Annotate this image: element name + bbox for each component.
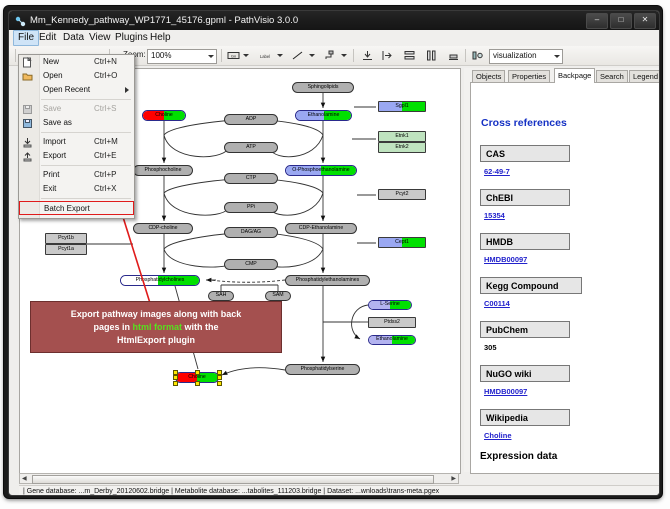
toolbar-separator [221, 49, 222, 62]
node-label: DAG/AG [241, 230, 261, 235]
menu-item-accel: Ctrl+O [94, 69, 117, 83]
pathvisio-app-icon [15, 15, 26, 26]
metabolite-node-ppi[interactable]: PPi [224, 202, 278, 213]
metabolite-node-atp[interactable]: ATP [224, 142, 278, 153]
metabolite-node-phosphatidylserine[interactable]: Phosphatidylserine [285, 364, 360, 375]
xref-label-nugo: NuGO wiki [480, 365, 570, 382]
gene-node-pcyt1b[interactable]: Pcyt1b [45, 233, 87, 244]
interaction-icon[interactable] [323, 49, 336, 62]
node-label: Etnk2 [395, 145, 408, 150]
line-icon[interactable] [291, 49, 304, 62]
menu-separator [41, 198, 131, 199]
gene-node-ptdss2[interactable]: Ptdss2 [368, 317, 416, 328]
save-as-icon [22, 118, 33, 129]
gene-node-cept1[interactable]: Cept1 [378, 237, 426, 248]
node-label: Ptdss2 [384, 320, 400, 325]
visualization-value: visualization [493, 51, 537, 60]
menu-item-open[interactable]: Open Ctrl+O [19, 69, 134, 83]
zoom-combobox[interactable]: 100% [147, 49, 217, 64]
metabolite-node-cdp-choline[interactable]: CDP-choline [133, 223, 193, 234]
gene-node-pcyt1a[interactable]: Pcyt1a [45, 244, 87, 255]
new-document-icon [22, 57, 33, 68]
node-label: Ethanolamine [308, 113, 340, 118]
menu-item-export[interactable]: Export Ctrl+E [19, 149, 134, 163]
window-frame: Mm_Kennedy_pathway_WP1771_45176.gpml - P… [8, 10, 660, 496]
metabolite-node-l-serine[interactable]: L-Serine [368, 300, 412, 310]
export-icon [22, 151, 33, 162]
tab-backpage[interactable]: Backpage [554, 68, 595, 83]
menu-item-accel: Ctrl+S [94, 102, 116, 116]
metabolite-node-phosphatidylethanolamines[interactable]: Phosphatidylethanolamines [285, 275, 370, 286]
node-label: Pcyt1b [58, 236, 74, 241]
node-label: Sgpl1 [395, 104, 408, 109]
selection-handle[interactable] [173, 381, 178, 386]
line-dropdown-icon[interactable] [309, 54, 315, 57]
gene-node-pcyt2[interactable]: Pcyt2 [378, 189, 426, 200]
menu-separator [41, 165, 131, 166]
xref-label-pubchem: PubChem [480, 321, 570, 338]
menu-item-import[interactable]: Import Ctrl+M [19, 135, 134, 149]
interaction-dropdown-icon[interactable] [341, 54, 347, 57]
svg-text:Gn: Gn [231, 54, 236, 59]
menu-item-new[interactable]: New Ctrl+N [19, 55, 134, 69]
visualization-combobox[interactable]: visualization [489, 49, 563, 64]
selection-handle[interactable] [217, 370, 222, 375]
node-label: CDP-choline [148, 226, 177, 231]
toolbar-separator [15, 49, 16, 62]
node-label: Phosphatidylethanolamines [296, 278, 359, 283]
node-label: ADP [246, 117, 257, 122]
menu-item-print[interactable]: Print Ctrl+P [19, 168, 134, 182]
menu-help[interactable]: Help [146, 31, 175, 45]
metabolite-node-sphingolipids[interactable]: Sphingolipids [292, 82, 354, 93]
menu-item-accel: Ctrl+M [94, 135, 118, 149]
annotation-callout: Export pathway images along with back pa… [30, 301, 282, 353]
maximize-button[interactable]: □ [610, 13, 632, 29]
node-label: O-Phosphoethanolamine [292, 168, 349, 173]
window-title: Mm_Kennedy_pathway_WP1771_45176.gpml - P… [30, 11, 298, 30]
node-label: SAM [272, 293, 283, 298]
datanode-dropdown-icon[interactable] [243, 54, 249, 57]
label-dropdown-icon[interactable] [277, 54, 283, 57]
menu-item-accel: Ctrl+N [94, 55, 117, 69]
metabolite-node-dag-ag[interactable]: DAG/AG [224, 227, 278, 238]
xref-label-kegg: Kegg Compound [480, 277, 582, 294]
annotation-html-format: html format [133, 322, 183, 332]
window-controls: – □ ✕ [586, 13, 656, 29]
selection-handle[interactable] [195, 381, 200, 386]
selection-handle[interactable] [217, 375, 222, 380]
menu-separator [41, 132, 131, 133]
chevron-down-icon [208, 55, 214, 58]
expression-data-heading: Expression data [480, 451, 557, 462]
gene-node-etnk1[interactable]: Etnk1 [378, 131, 426, 142]
menu-item-save: Save Ctrl+S [19, 102, 134, 116]
menu-item-label: Import [43, 135, 66, 149]
xref-value-kegg[interactable]: C00114 [484, 299, 510, 308]
menu-item-label: New [43, 55, 59, 69]
pathvisio-window: Mm_Kennedy_pathway_WP1771_45176.gpml - P… [0, 0, 670, 509]
node-label: Pcyt2 [396, 192, 409, 197]
cross-references-heading: Cross references [481, 117, 567, 129]
annotation-line2-pre: pages in [93, 322, 132, 332]
file-menu-popup: New Ctrl+N Open Ctrl+O Open Recent Save [18, 54, 135, 219]
xref-label-wikipedia: Wikipedia [480, 409, 570, 426]
menu-item-accel: Ctrl+E [94, 149, 116, 163]
align-top-icon[interactable] [361, 49, 374, 62]
metabolite-node-choline[interactable]: Choline [142, 110, 186, 121]
metabolite-node-sam[interactable]: SAM [265, 291, 291, 301]
close-button[interactable]: ✕ [634, 13, 656, 29]
import-icon [22, 137, 33, 148]
svg-text:Label: Label [260, 54, 270, 59]
metabolite-node-ethanolamine[interactable]: Ethanolamine [295, 110, 352, 121]
node-label: Etnk1 [395, 134, 408, 139]
selection-handle[interactable] [195, 370, 200, 375]
gene-node-etnk2[interactable]: Etnk2 [378, 142, 426, 153]
node-label: Ethanolamine [376, 337, 408, 342]
metabolite-node-sah[interactable]: SAH [208, 291, 234, 301]
side-panel: Objects Properties Backpage Search Legen… [464, 68, 660, 472]
metabolite-node-ethanolamine[interactable]: Ethanolamine [368, 335, 416, 345]
annotation-line1: Export pathway images along with back [71, 308, 242, 321]
menu-item-label: Export [43, 149, 66, 163]
xref-label-chebi: ChEBI [480, 189, 570, 206]
menu-item-exit[interactable]: Exit Ctrl+X [19, 182, 134, 196]
menu-bar: File Edit Data View Plugins Help [9, 30, 659, 47]
scrollbar-thumb[interactable] [32, 475, 434, 484]
node-label: Pcyt1a [58, 247, 74, 252]
node-label: Phosphatidylcholines [136, 278, 185, 283]
side-panel-tabs: Objects Properties Backpage Search Legen… [464, 68, 660, 82]
menu-item-label: Save [43, 102, 61, 116]
menu-item-save-as[interactable]: Save as [19, 116, 134, 130]
title-bar: Mm_Kennedy_pathway_WP1771_45176.gpml - P… [9, 11, 659, 30]
menu-item-label: Exit [43, 182, 56, 196]
annotation-line2: pages in html format with the [71, 321, 242, 334]
menu-item-open-recent[interactable]: Open Recent [19, 83, 134, 97]
menu-item-label: Save as [43, 116, 72, 130]
node-label: SAH [216, 293, 227, 298]
annotation-line3: HtmlExport plugin [71, 334, 242, 347]
align-columns-icon[interactable] [425, 49, 438, 62]
toolbar-separator [465, 49, 466, 62]
xref-value-wikipedia[interactable]: Choline [484, 431, 512, 440]
selection-handle[interactable] [173, 375, 178, 380]
metabolite-node-ctp[interactable]: CTP [224, 173, 278, 184]
xref-value-chebi[interactable]: 15354 [484, 211, 505, 220]
metabolite-node-cmp[interactable]: CMP [224, 259, 278, 270]
visualization-icon[interactable] [471, 49, 484, 62]
xref-value-nugo[interactable]: HMDB00097 [484, 387, 527, 396]
save-disk-icon [22, 104, 33, 115]
node-label: Phosphatidylserine [301, 367, 345, 372]
chevron-down-icon [554, 55, 560, 58]
menu-edit[interactable]: Edit [35, 31, 60, 45]
scroll-left-icon[interactable]: ◀ [22, 476, 27, 482]
align-rows-icon[interactable] [403, 49, 416, 62]
menu-item-label: Print [43, 168, 59, 182]
open-folder-icon [22, 71, 33, 82]
metabolite-node-cdp-ethanolamine[interactable]: CDP-Ethanolamine [285, 223, 357, 234]
status-bar: | Gene database: ...m_Derby_20120602.bri… [19, 485, 660, 496]
menu-item-batch-export[interactable]: Batch Export [19, 201, 134, 215]
minimize-button[interactable]: – [586, 13, 608, 29]
zoom-value: 100% [151, 51, 171, 60]
menu-item-accel: Ctrl+X [94, 182, 116, 196]
xref-value-cas[interactable]: 62-49-7 [484, 167, 510, 176]
xref-value-hmdb[interactable]: HMDB00097 [484, 255, 527, 264]
menu-item-label: Batch Export [44, 202, 90, 216]
metabolite-node-o-phosphoethanolamine[interactable]: O-Phosphoethanolamine [285, 165, 357, 176]
node-label: CTP [246, 176, 256, 181]
menu-data[interactable]: Data [59, 31, 88, 45]
align-left-icon[interactable] [381, 49, 394, 62]
xref-label-hmdb: HMDB [480, 233, 570, 250]
node-label: Choline [188, 375, 206, 380]
scroll-right-icon[interactable]: ▶ [451, 476, 456, 482]
menu-item-accel: Ctrl+P [94, 168, 116, 182]
label-icon[interactable]: Label [255, 49, 275, 62]
node-label: Cept1 [395, 240, 409, 245]
backpage-content: Cross references CAS 62-49-7 ChEBI 15354… [470, 82, 660, 474]
canvas-horizontal-scrollbar[interactable]: ◀ ▶ [19, 473, 459, 484]
node-label: Choline [155, 113, 173, 118]
node-label: CMP [245, 262, 257, 267]
node-label: L-Serine [380, 302, 400, 307]
metabolite-node-adp[interactable]: ADP [224, 114, 278, 125]
annotation-line2-post: with the [182, 322, 219, 332]
xref-label-cas: CAS [480, 145, 570, 162]
chevron-right-icon [125, 87, 129, 93]
node-label: Phosphocholine [145, 168, 182, 173]
selection-handle[interactable] [173, 370, 178, 375]
menu-separator [41, 99, 131, 100]
stack-icon[interactable] [447, 49, 460, 62]
node-label: PPi [247, 205, 255, 210]
selection-handle[interactable] [217, 381, 222, 386]
xref-value-pubchem: 305 [484, 343, 497, 352]
node-label: CDP-Ethanolamine [299, 226, 343, 231]
datanode-icon[interactable]: Gn [227, 49, 240, 62]
menu-item-label: Open [43, 69, 63, 83]
metabolite-node-phosphatidylcholines[interactable]: Phosphatidylcholines [120, 275, 200, 286]
menu-item-label: Open Recent [43, 83, 90, 97]
metabolite-node-phosphocholine[interactable]: Phosphocholine [133, 165, 193, 176]
node-label: ATP [246, 145, 256, 150]
node-label: Sphingolipids [308, 85, 339, 90]
gene-node-sgpl1[interactable]: Sgpl1 [378, 101, 426, 112]
toolbar-separator [353, 49, 354, 62]
